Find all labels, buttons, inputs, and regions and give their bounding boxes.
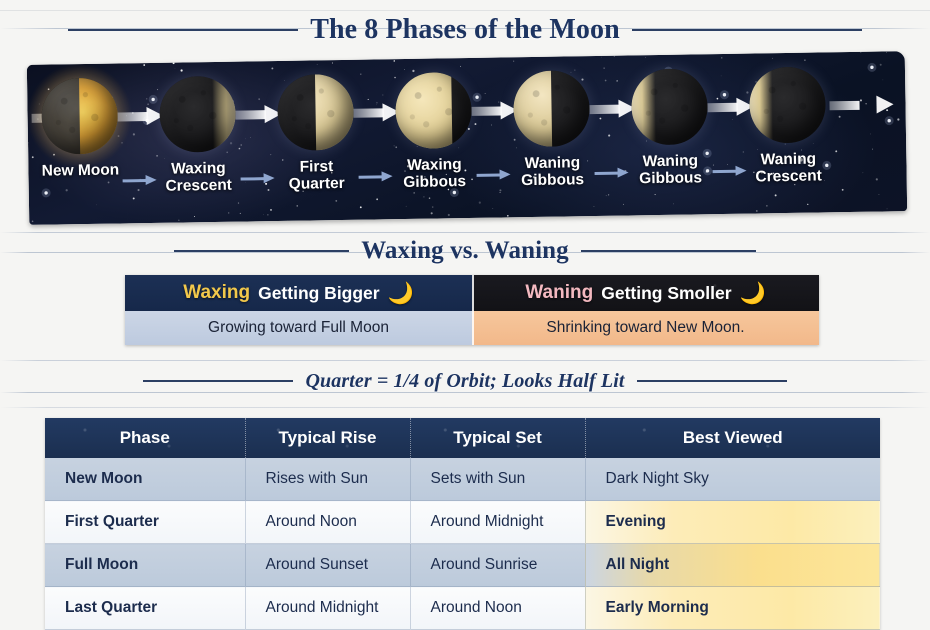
cell-phase: Last Quarter [45,587,245,630]
cell-typical-set: Sets with Sun [410,458,585,501]
cell-best-viewed: Evening [585,501,880,544]
moon-disc [41,77,118,154]
moon-phase-label-5: WaningGibbous [503,154,602,190]
note-rule-right [637,380,787,382]
quarter-note-text: Quarter = 1/4 of Orbit; Looks Half Lit [293,370,636,393]
moon-phase-image-6 [624,60,715,153]
table-header-row: Phase Typical Rise Typical Set Best View… [45,418,880,458]
table-row: Last QuarterAround MidnightAround NoonEa… [45,587,880,630]
moon-disc [277,74,354,151]
paper-rule [0,360,930,361]
moon-phase-image-3 [270,66,361,159]
waxing-panel-header: Waxing Getting Bigger 🌙 [125,275,472,311]
waxing-keyword: Waxing [183,282,250,304]
moon-phase-label-line1: First [300,158,334,176]
title-rule-right [632,29,862,31]
waxing-waning-comparison: Waxing Getting Bigger 🌙 Growing toward F… [125,275,819,345]
cell-phase: New Moon [45,458,245,501]
section-title-waxing-vs-waning: Waxing vs. Waning [0,232,930,270]
cell-typical-rise: Around Midnight [245,587,410,630]
waning-headline: Getting Smoller [601,283,731,304]
waning-panel-header: Waning Getting Smoller 🌙 [472,275,819,311]
moon-phase-label-line1: Waning [525,154,581,172]
cell-typical-set: Around Noon [410,587,585,630]
column-header-best-viewed: Best Viewed [585,418,880,458]
panel-divider [472,275,474,345]
moon-phase-label-line2: Gibbous [639,169,702,187]
cell-typical-rise: Around Sunset [245,544,410,587]
column-header-phase: Phase [45,418,245,458]
moon-phase-label-line2: Crescent [165,177,232,195]
table-row: Full MoonAround SunsetAround SunriseAll … [45,544,880,587]
note-rule-left [143,380,293,382]
page-title: The 8 Phases of the Moon [0,8,930,52]
cell-best-viewed: All Night [585,544,880,587]
waxing-panel: Waxing Getting Bigger 🌙 Growing toward F… [125,275,472,345]
moon-phase-label-line1: Waning [643,152,699,170]
moon-disc [513,70,590,147]
moon-phase-label-1: New Moon [31,161,129,180]
moon-disc [631,68,708,145]
page-title-text: The 8 Phases of the Moon [298,14,632,46]
moon-phase-strip: New MoonWaxingCrescentFirstQuarterWaxing… [27,51,907,225]
waxing-panel-body: Growing toward Full Moon [125,311,472,345]
moon-disc [395,72,472,149]
moon-phase-label-line2: Quarter [289,175,345,193]
cell-typical-rise: Around Noon [245,501,410,544]
cell-typical-set: Around Sunrise [410,544,585,587]
cell-best-viewed: Early Morning [585,587,880,630]
phase-schedule-table: Phase Typical Rise Typical Set Best View… [45,418,880,630]
paper-rule [0,407,930,408]
section-rule-right [581,250,756,252]
table-row: New MoonRises with SunSets with SunDark … [45,458,880,501]
crescent-moon-icon: 🌙 [388,283,414,304]
moon-disc [159,76,236,153]
section-title-text: Waxing vs. Waning [349,237,581,265]
section-rule-left [174,250,349,252]
waning-keyword: Waning [525,282,593,304]
moon-disc [749,66,826,143]
moon-phase-image-2 [152,68,243,161]
moon-phase-label-2: WaxingCrescent [149,159,248,195]
moon-phase-label-line2: Gibbous [403,173,466,191]
cell-best-viewed: Dark Night Sky [585,458,880,501]
column-header-typical-set: Typical Set [410,418,585,458]
moon-phase-image-7 [742,58,833,151]
cell-phase: Full Moon [45,544,245,587]
phase-flow-arrow [829,95,893,114]
moon-phase-label-line1: New Moon [42,161,120,179]
cell-typical-rise: Rises with Sun [245,458,410,501]
cell-phase: First Quarter [45,501,245,544]
moon-phase-label-line1: Waxing [171,160,226,178]
moon-phase-label-3: FirstQuarter [267,158,366,194]
waning-panel-body: Shrinking toward New Moon. [472,311,819,345]
moon-phase-label-line1: Waning [761,151,817,169]
moon-phase-label-4: WaxingGibbous [385,156,484,192]
moon-phase-label-line2: Crescent [755,167,822,185]
cell-typical-set: Around Midnight [410,501,585,544]
section-title-quarter-note: Quarter = 1/4 of Orbit; Looks Half Lit [0,366,930,396]
crescent-moon-icon: 🌙 [740,283,766,304]
moon-phase-label-7: WaningCrescent [739,150,838,186]
moon-phase-image-4 [388,64,479,157]
table-row: First QuarterAround NoonAround MidnightE… [45,501,880,544]
waxing-headline: Getting Bigger [258,283,380,304]
title-rule-left [68,29,298,31]
moon-phase-image-1 [34,69,125,162]
column-header-typical-rise: Typical Rise [245,418,410,458]
moon-phase-label-line1: Waxing [407,156,462,174]
moon-phase-image-5 [506,62,597,155]
moon-phase-label-line2: Gibbous [521,171,584,189]
waning-panel: Waning Getting Smoller 🌙 Shrinking towar… [472,275,819,345]
moon-phase-label-6: WaningGibbous [621,152,720,188]
